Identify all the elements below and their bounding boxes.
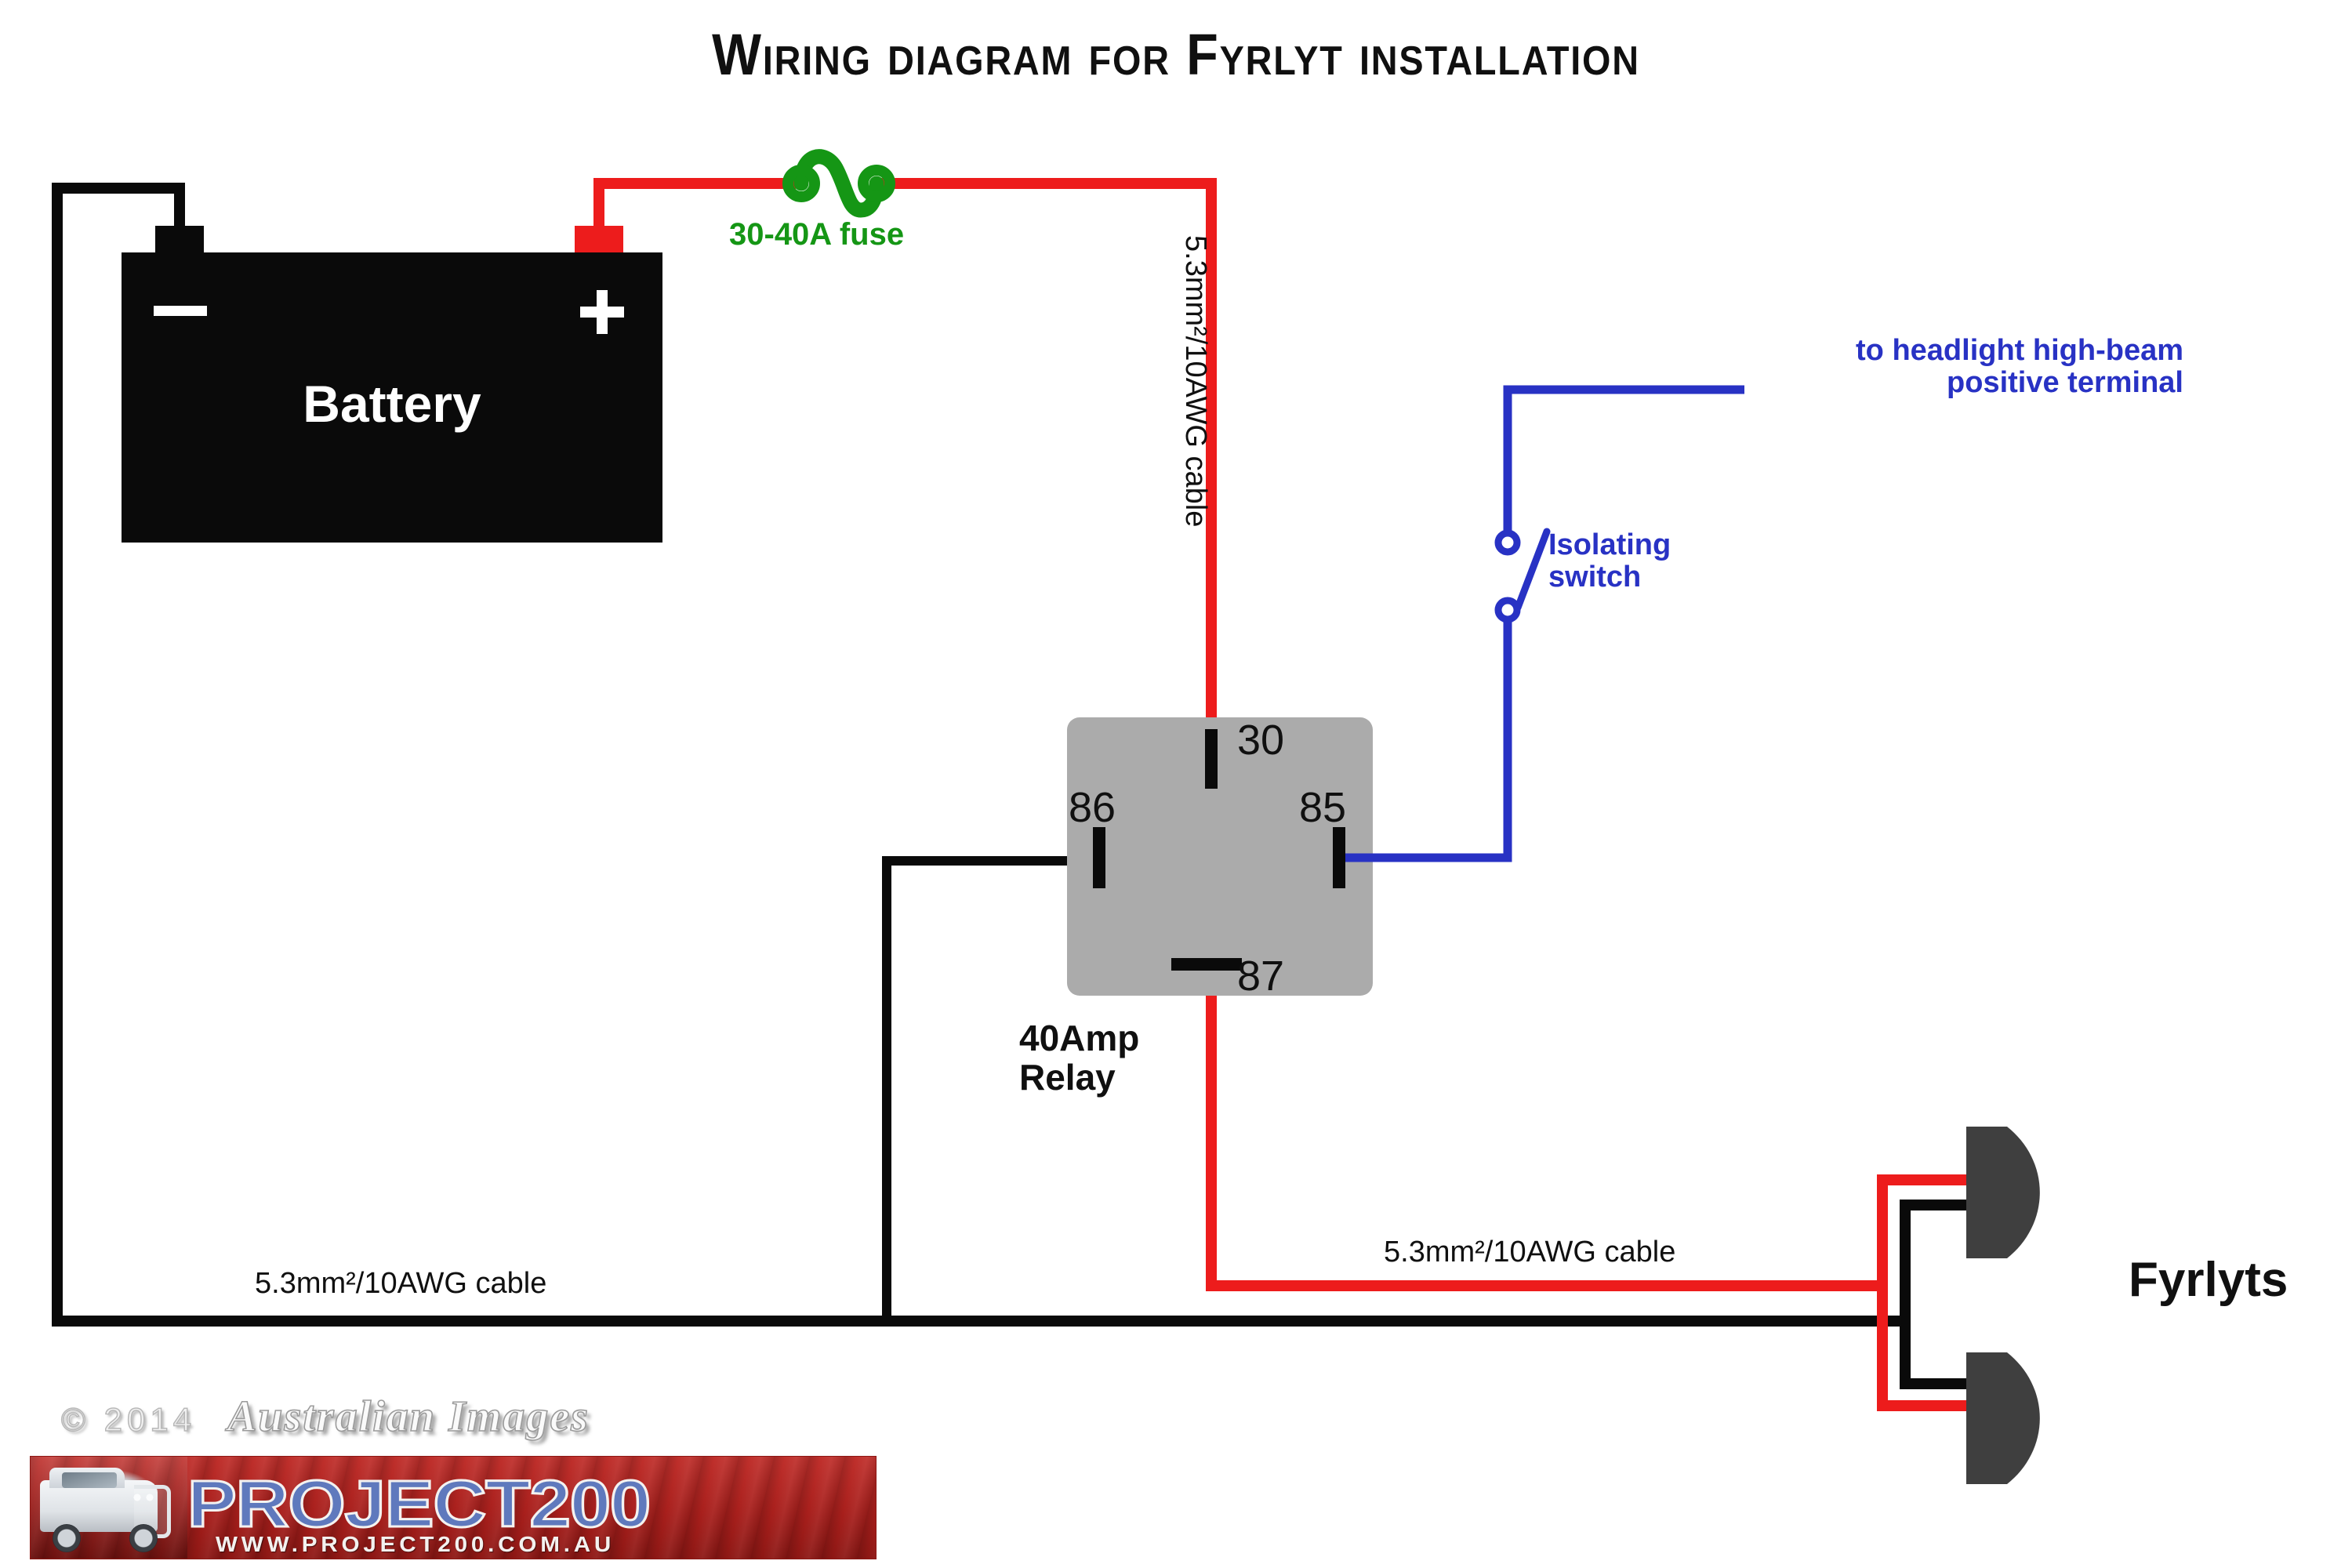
relay-terminal-87-blade [1171, 958, 1242, 971]
vehicle-spotlights-icon [131, 1491, 162, 1504]
relay-terminal-30-label: 30 [1237, 717, 1284, 763]
fyrlyts-label: Fyrlyts [2129, 1254, 2288, 1307]
fuse-icon [788, 157, 890, 210]
vehicle-window [62, 1472, 117, 1488]
lamp-positive-bus [1882, 1180, 1970, 1406]
headlight-highbeam-note: to headlight high-beam positive terminal [1760, 335, 2183, 399]
relay-label: 40Amp Relay [1019, 1019, 1139, 1097]
fyrlyt-lamp-upper [1966, 1127, 2040, 1258]
brand-wordmark: PROJECT200 [187, 1466, 650, 1542]
relay-body[interactable] [1067, 717, 1373, 996]
isolating-switch-icon[interactable] [1498, 532, 1547, 619]
page-title: Wiring diagram for Fyrlyt installation [118, 24, 2234, 86]
relay-terminal-86-blade [1093, 827, 1105, 888]
cable-label-lamp-feed: 5.3mm²/10AWG cable [1384, 1236, 1675, 1269]
studio-credit-text: Australian Images [227, 1392, 590, 1442]
battery-plus-icon [580, 290, 624, 334]
vehicle-photo [31, 1457, 187, 1559]
relay-terminal-85-blade [1333, 827, 1345, 888]
trigger-wire-switch-to-highbeam [1508, 390, 1744, 549]
copyright-text: © 2014 [61, 1401, 196, 1439]
brand-url: WWW.PROJECT200.COM.AU [216, 1532, 615, 1557]
wiring-diagram-canvas: Wiring diagram for Fyrlyt installation B… [0, 0, 2352, 1568]
isolating-switch-label: Isolating switch [1548, 529, 1671, 593]
fyrlyt-lamp-group [1882, 1127, 2040, 1484]
relay-terminal-87-label: 87 [1237, 953, 1284, 999]
wiring-schematic [0, 0, 2352, 1568]
cable-label-ground-run: 5.3mm²/10AWG cable [255, 1268, 546, 1300]
watermark: © 2014 Australian Images [61, 1392, 590, 1442]
positive-wire-fuse-to-relay-30 [877, 183, 1211, 737]
vehicle-wheel-front [129, 1524, 158, 1552]
battery-label: Battery [122, 376, 662, 432]
fuse-label: 30-40A fuse [729, 218, 904, 252]
fyrlyt-lamp-lower [1966, 1352, 2040, 1484]
cable-label-main-feed: 5.3mm²/10AWG cable [1179, 235, 1211, 527]
relay-terminal-85-label: 85 [1299, 785, 1346, 830]
project200-logo-banner[interactable]: PROJECT200 WWW.PROJECT200.COM.AU [30, 1456, 877, 1559]
vehicle-wheel-rear [53, 1524, 81, 1552]
relay-terminal-30-blade [1205, 729, 1218, 789]
trigger-wire-group [1345, 390, 1744, 858]
lamp-ground-bus [1905, 1205, 1970, 1384]
battery-minus-icon [154, 306, 207, 316]
relay-terminal-86-label: 86 [1069, 785, 1116, 830]
